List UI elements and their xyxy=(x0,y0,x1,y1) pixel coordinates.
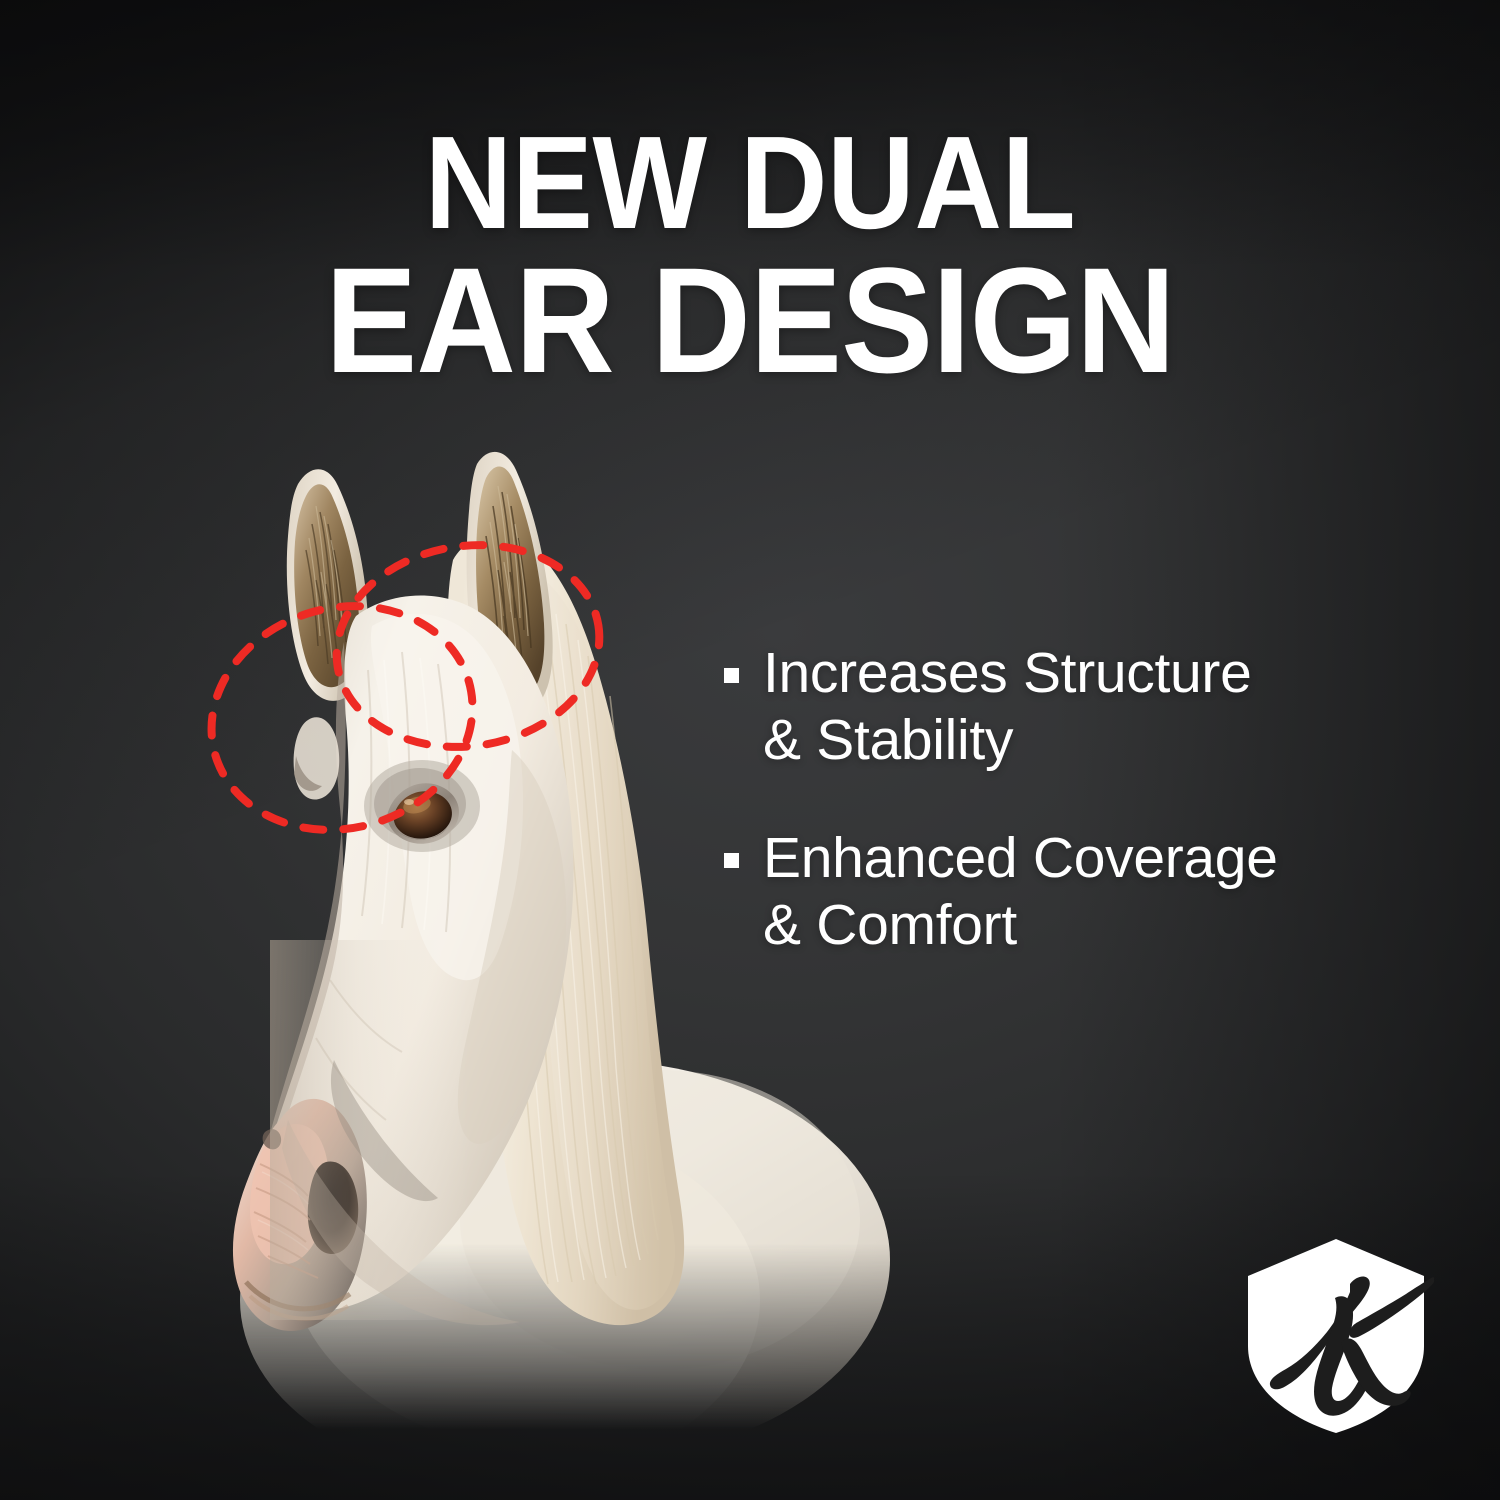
benefit-line-1: Enhanced Coverage xyxy=(763,826,1278,890)
benefit-text: Enhanced Coverage & Comfort xyxy=(763,825,1278,960)
horse-eye xyxy=(364,760,480,852)
square-bullet-icon xyxy=(724,853,739,868)
benefit-line-2: & Stability xyxy=(763,708,1013,772)
promo-graphic: New Dual Ear Design Increases Structure … xyxy=(0,0,1500,1500)
list-item: Increases Structure & Stability xyxy=(724,640,1414,775)
brand-logo xyxy=(1238,1236,1434,1436)
headline-line-1: New Dual xyxy=(60,118,1440,247)
headline-line-2: Ear Design xyxy=(60,247,1440,394)
benefit-list: Increases Structure & Stability Enhanced… xyxy=(724,640,1414,1009)
benefit-line-2: & Comfort xyxy=(763,893,1017,957)
headline: New Dual Ear Design xyxy=(60,118,1440,394)
horse-neck xyxy=(270,940,560,1325)
square-bullet-icon xyxy=(724,668,739,683)
benefit-text: Increases Structure & Stability xyxy=(763,640,1252,775)
benefit-line-1: Increases Structure xyxy=(763,641,1252,705)
list-item: Enhanced Coverage & Comfort xyxy=(724,825,1414,960)
